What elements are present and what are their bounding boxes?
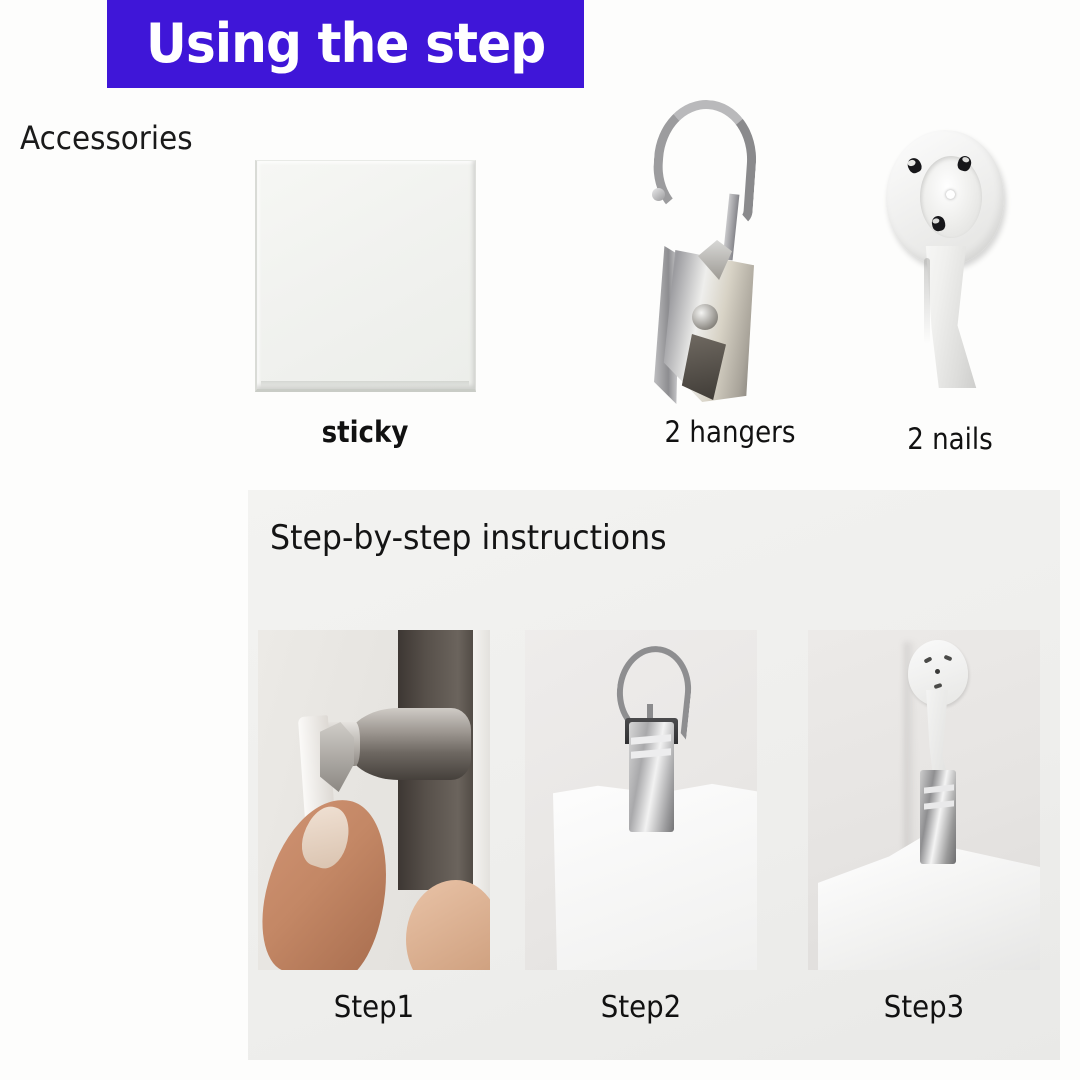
hook-plate-center-dot bbox=[946, 190, 955, 199]
clip-rivet-shape bbox=[692, 304, 718, 330]
step-caption-2: Step2 bbox=[534, 990, 747, 1025]
hook-tip-shape bbox=[652, 188, 665, 201]
page-title: Using the step bbox=[146, 17, 545, 71]
title-banner: Using the step bbox=[107, 0, 584, 88]
step-caption-1: Step1 bbox=[267, 990, 480, 1025]
nail-hole-icon bbox=[944, 655, 953, 662]
hook-arm-groove-shape bbox=[924, 258, 930, 344]
step-caption-3: Step3 bbox=[817, 990, 1030, 1025]
accessory-caption-hangers: 2 hangers bbox=[631, 415, 829, 449]
hook-arm-shape bbox=[910, 246, 982, 388]
door-handle-shape bbox=[346, 708, 471, 780]
nail-hole-icon bbox=[924, 656, 933, 663]
nail-hole-icon bbox=[934, 683, 943, 689]
hook-base-plate-shape bbox=[886, 130, 1004, 266]
scene-wall-hook-holding-cloth bbox=[808, 630, 1040, 970]
step-image-3 bbox=[808, 630, 1040, 970]
accessories-section-label: Accessories bbox=[20, 119, 193, 157]
instructions-heading: Step-by-step instructions bbox=[270, 518, 667, 558]
wall-hook-icon bbox=[880, 130, 1020, 388]
step-image-2 bbox=[525, 630, 757, 970]
thumb-shape bbox=[406, 880, 490, 970]
nail-hole-icon bbox=[905, 156, 923, 175]
accessory-caption-sticky: sticky bbox=[289, 415, 442, 449]
step-image-1 bbox=[258, 630, 490, 970]
adhesive-pad-icon bbox=[255, 160, 476, 392]
instructions-panel: Step-by-step instructions Step1 Step2 bbox=[248, 490, 1060, 1060]
scene-press-adhesive-pad bbox=[258, 630, 490, 970]
accessory-caption-nails: 2 nails bbox=[876, 422, 1024, 456]
hook-plate-center-dot bbox=[935, 669, 940, 674]
hook-curve-shape bbox=[650, 97, 760, 226]
hanger-clip-icon bbox=[640, 98, 820, 388]
scene-clip-gripping-sheet bbox=[525, 630, 757, 970]
